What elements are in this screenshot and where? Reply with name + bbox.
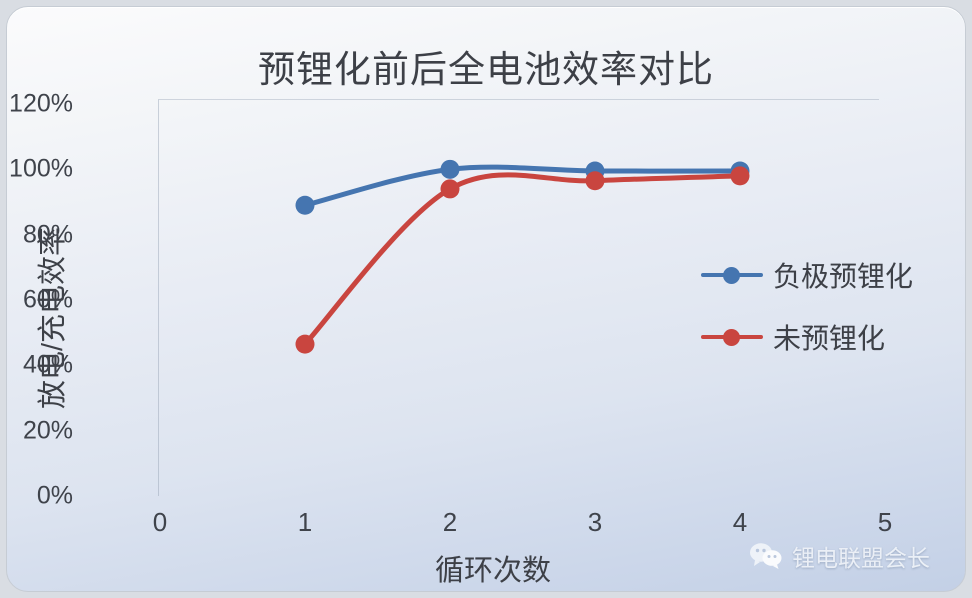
x-tick-label: 5 bbox=[878, 507, 892, 538]
y-tick-label: 120% bbox=[6, 90, 73, 119]
y-tick-label: 40% bbox=[6, 351, 73, 380]
x-tick-label: 0 bbox=[153, 507, 167, 538]
x-tick-label: 4 bbox=[733, 507, 747, 538]
x-tick-label: 3 bbox=[588, 507, 602, 538]
legend-item-1[interactable]: 未预锂化 bbox=[701, 317, 913, 357]
x-tick-label: 2 bbox=[443, 507, 457, 538]
chart-card: 预锂化前后全电池效率对比 放电/充电效率 循环次数 0%20%40%60%80%… bbox=[6, 6, 966, 592]
y-tick-label: 20% bbox=[6, 416, 73, 445]
legend-label: 负极预锂化 bbox=[773, 255, 913, 295]
y-tick-label: 60% bbox=[6, 286, 73, 315]
chart-title: 预锂化前后全电池效率对比 bbox=[7, 39, 965, 93]
y-tick-label: 0% bbox=[6, 482, 73, 511]
legend-swatch-icon bbox=[701, 327, 763, 347]
y-tick-label: 80% bbox=[6, 220, 73, 249]
y-tick-label: 100% bbox=[6, 155, 73, 184]
legend: 负极预锂化未预锂化 bbox=[701, 255, 913, 357]
legend-label: 未预锂化 bbox=[773, 317, 885, 357]
legend-item-0[interactable]: 负极预锂化 bbox=[701, 255, 913, 295]
watermark-text: 锂电联盟会长 bbox=[792, 539, 930, 573]
legend-swatch-icon bbox=[701, 265, 763, 285]
wechat-icon bbox=[749, 542, 783, 570]
watermark: 锂电联盟会长 bbox=[749, 539, 930, 573]
x-tick-label: 1 bbox=[298, 507, 312, 538]
